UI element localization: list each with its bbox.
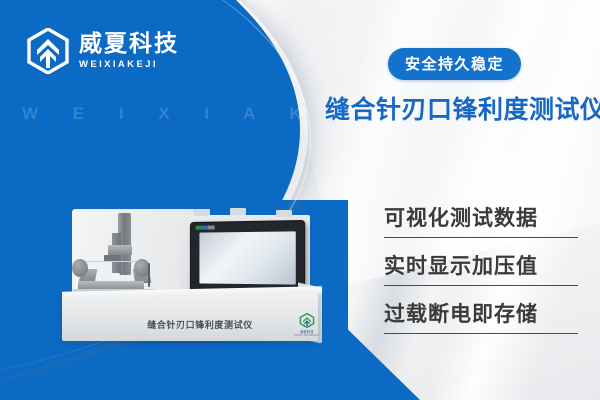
machine-brand-subtext: WEIXIA TECHNOLOGY (294, 334, 320, 337)
machine-cap (194, 209, 210, 216)
list-item: 实时显示加压值 (384, 250, 578, 286)
fixture-knob-left (72, 259, 88, 277)
fixture-head (108, 245, 132, 255)
product-image: 缝合针刃口锋利度测试仪 威夏科技 WEIXIA TECHNOLOGY (62, 205, 352, 365)
hexagon-shield-arrow-logo-icon (26, 28, 70, 74)
feature-text: 可视化测试数据 (384, 202, 578, 232)
blade-sharpness-test-fixture-icon (68, 211, 178, 301)
fixture-cable (148, 263, 150, 287)
screen-display (199, 231, 295, 284)
machine-base (62, 293, 318, 341)
brand-name-cn: 威夏科技 (79, 33, 179, 56)
list-item: 过载断电即存储 (384, 298, 578, 334)
brand-logo: 威夏科技 WEIXIAKEJI (26, 28, 179, 74)
feature-text: 过载断电即存储 (384, 298, 578, 328)
machine-cap (276, 210, 292, 217)
screen-indicator-led (196, 226, 215, 230)
machine-brand-logo: 威夏科技 WEIXIA TECHNOLOGY (294, 313, 320, 337)
product-banner: W E I X I A K E 威夏科技 WEIXIAKEJI 安全持久稳定 缝… (0, 0, 600, 400)
hero-badge: 安全持久稳定 (388, 48, 521, 80)
brand-text: 威夏科技 WEIXIAKEJI (79, 33, 179, 70)
green-hexagon-logo-icon (294, 313, 320, 328)
brand-name-en: WEIXIAKEJI (79, 60, 179, 70)
fixture-specimen (110, 273, 120, 279)
feature-text: 实时显示加压值 (384, 250, 578, 280)
feature-list: 可视化测试数据 实时显示加压值 过载断电即存储 (384, 202, 578, 346)
machine-base-label: 缝合针刃口锋利度测试仪 (120, 318, 280, 331)
page-title: 缝合针刃口锋利度测试仪 (325, 90, 600, 126)
background-watermark: W E I X I A K E (22, 104, 363, 124)
machine-cap (230, 208, 246, 215)
list-item: 可视化测试数据 (384, 202, 578, 238)
